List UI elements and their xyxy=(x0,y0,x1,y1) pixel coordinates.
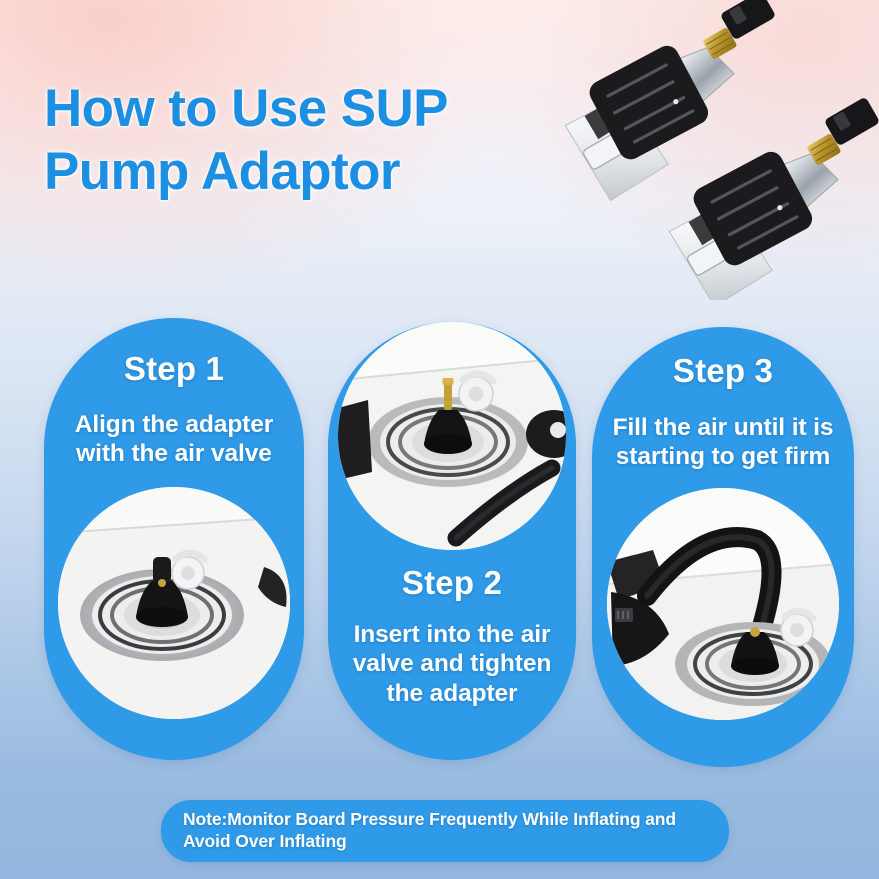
page-title-line-2: Pump Adaptor xyxy=(44,141,564,204)
step-1-photo xyxy=(58,487,290,719)
page-title: How to Use SUP Pump Adaptor xyxy=(44,78,564,203)
step-2-description-line-2: valve and tighten xyxy=(334,649,570,678)
step-2-description-line-3: the adapter xyxy=(334,679,570,708)
step-1-description-line-2: with the air valve xyxy=(50,439,298,468)
step-2-description: Insert into the air valve and tighten th… xyxy=(334,620,570,708)
step-panel-1: Step 1 Align the adapter with the air va… xyxy=(44,318,304,760)
step-3-heading: Step 3 xyxy=(598,352,848,390)
step-3-text: Step 3 Fill the air until it is starting… xyxy=(592,327,854,472)
step-1-description: Align the adapter with the air valve xyxy=(50,410,298,469)
note-line-2: Avoid Over Inflating xyxy=(183,830,709,852)
step-2-photo xyxy=(338,322,566,550)
page-title-line-1: How to Use SUP xyxy=(44,78,564,141)
step-1-description-line-1: Align the adapter xyxy=(50,410,298,439)
step-2-text: Step 2 Insert into the air valve and tig… xyxy=(328,564,576,734)
infographic-canvas: How to Use SUP Pump Adaptor xyxy=(0,0,879,879)
step-1-text: Step 1 Align the adapter with the air va… xyxy=(44,318,304,469)
step-panel-2: Step 2 Insert into the air valve and tig… xyxy=(328,322,576,760)
step-2-heading: Step 2 xyxy=(334,564,570,602)
step-3-description: Fill the air until it is starting to get… xyxy=(598,413,848,472)
step-1-heading: Step 1 xyxy=(50,350,298,388)
step-3-description-line-1: Fill the air until it is xyxy=(598,413,848,442)
step-panel-3: Step 3 Fill the air until it is starting… xyxy=(592,327,854,767)
step-2-description-line-1: Insert into the air xyxy=(334,620,570,649)
note-banner: Note:Monitor Board Pressure Frequently W… xyxy=(161,800,729,862)
product-photo xyxy=(540,0,879,300)
step-3-photo xyxy=(607,488,839,720)
step-3-description-line-2: starting to get firm xyxy=(598,442,848,471)
note-line-1: Note:Monitor Board Pressure Frequently W… xyxy=(183,808,709,830)
